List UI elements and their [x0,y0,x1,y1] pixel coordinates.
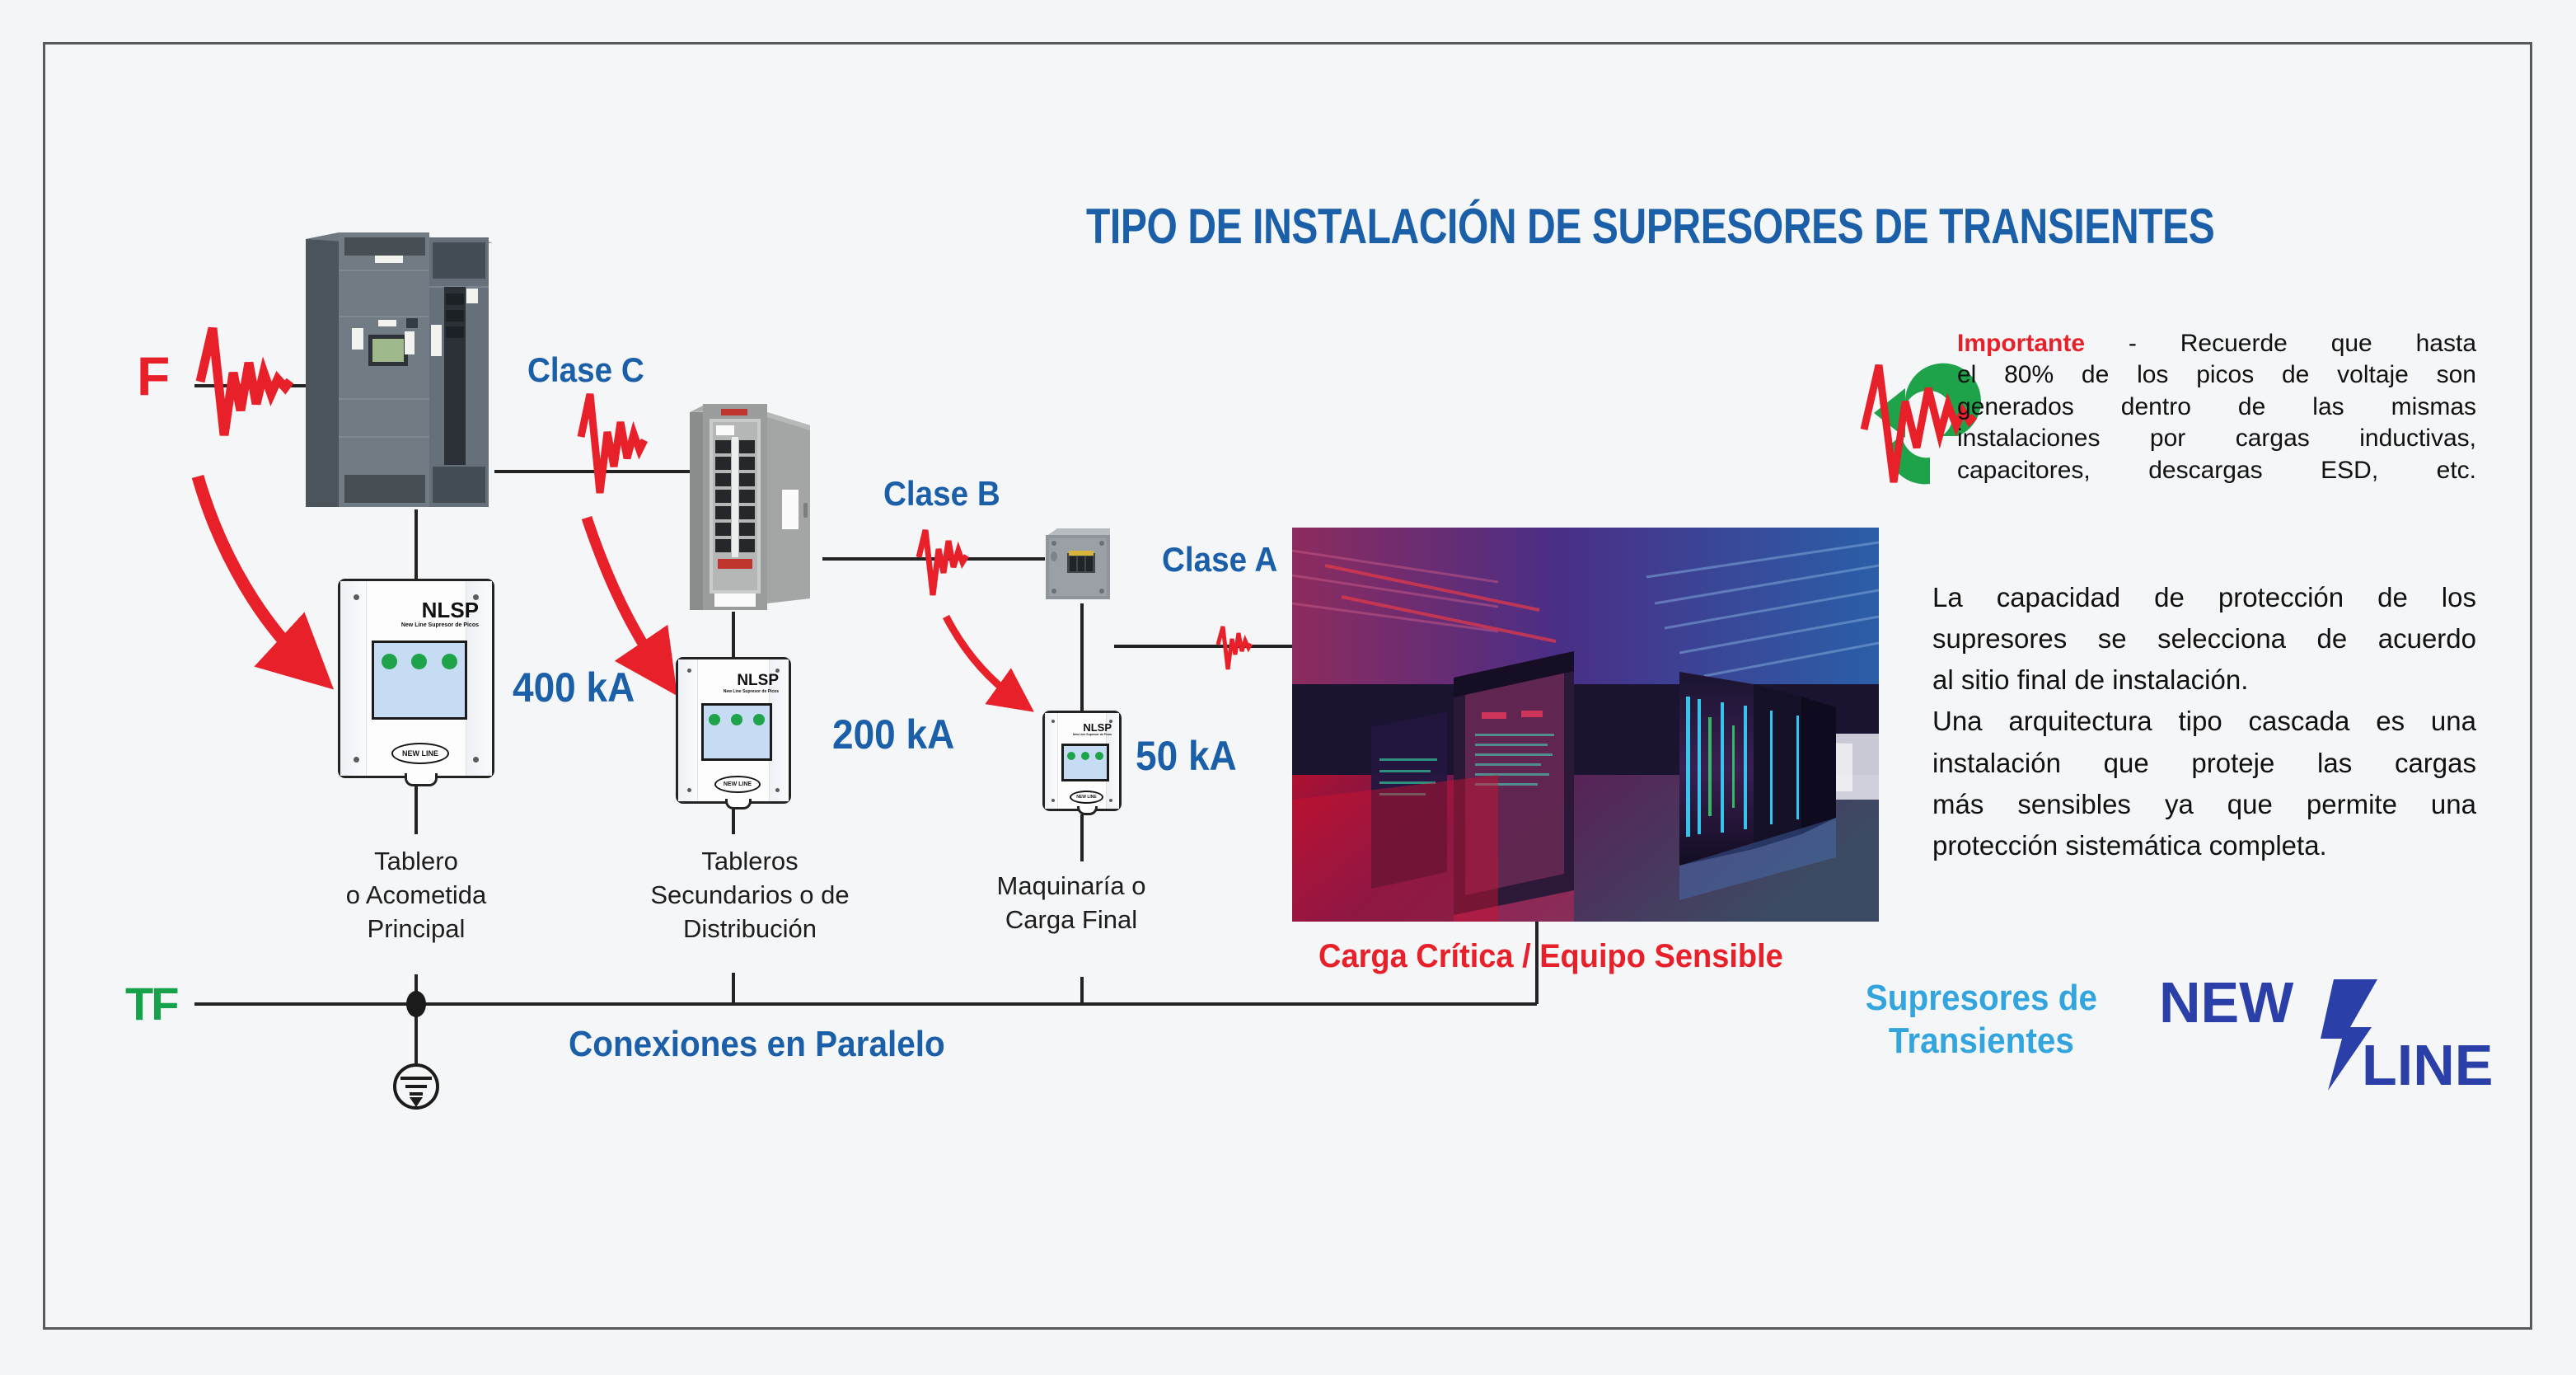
newline-logo: NEW LINE [2159,971,2513,1095]
photo-caption: Carga Crítica / Equipo Sensible [1318,938,1783,975]
nlsp-device-200ka[interactable]: NLSP New Line Supresor de Picos NEW LINE [676,657,791,804]
important-line-2: el 80% de los picos de voltaje son [1957,359,2476,391]
status-window [1061,744,1109,781]
description-paragraph: La capacidad de protección de los supres… [1932,577,2476,866]
logo-word-new: NEW [2159,971,2293,1035]
status-window [372,641,467,720]
nlsp-device-400ka[interactable]: NLSP New Line Supresor de Picos NEW LINE [338,579,494,778]
conduit-knockout [725,799,752,810]
device-model-label: NLSP [422,599,479,621]
machine-breaker-box-image [1042,523,1113,603]
screw-icon [775,788,780,792]
device-model-label: NLSP [737,673,779,688]
status-led [411,654,427,669]
device-bezel-left [1045,713,1058,809]
important-note: Importante - Recuerde que hasta el 80% d… [1957,328,2476,486]
status-led [442,654,457,669]
status-window [701,703,772,761]
paragraph-line-5: instalación que proteje las cargas [1932,743,2476,784]
class-label-c: Clase C [527,350,644,390]
important-line-5: capacitores, descargas ESD, etc. [1957,455,2476,486]
status-led [753,714,765,725]
rating-label-50ka: 50 kA [1136,732,1237,780]
caption-line: Maquinaría o [935,870,1207,903]
stage-caption-final-load: Maquinaría o Carga Final [935,870,1207,937]
nlsp-device-50ka[interactable]: NLSP New Line Supresor de Picos NEW LINE [1042,711,1122,811]
screw-icon [1051,799,1055,802]
device-bezel-left [678,659,698,801]
device-subtitle: New Line Supresor de Picos [401,622,479,628]
caption-line: Secundarios o de [610,879,890,913]
stage-caption-main: Tablero o Acometida Principal [280,845,552,946]
caption-line: Carga Final [935,903,1207,937]
screw-icon [687,788,691,792]
rating-label-400ka: 400 kA [513,664,635,711]
ground-line-label: TF [125,977,176,1030]
caption-line: Principal [280,913,552,946]
logo-word-line: LINE [2362,1033,2493,1095]
stage-caption-secondary: Tableros Secundarios o de Distribución [610,845,890,946]
important-line-1: - Recuerde que hasta [2129,330,2476,357]
status-led [1081,752,1089,760]
tagline-line-1: Supresores de [1834,977,2129,1020]
infographic-canvas: TIPO DE INSTALACIÓN DE SUPRESORES DE TRA… [0,0,2576,1375]
caption-line: Tablero [280,845,552,879]
class-label-a: Clase A [1162,540,1277,580]
paragraph-line-7: protección sistemática completa. [1932,825,2476,866]
rating-label-200ka: 200 kA [832,711,954,758]
datacenter-photo [1292,528,1879,922]
screw-icon [687,669,691,673]
important-line-3: generados dentro de las mismas [1957,392,2476,423]
paragraph-line-6: más sensibles ya que permite una [1932,784,2476,825]
newline-badge: NEW LINE [1070,791,1103,804]
main-switchgear-image [299,228,493,512]
page-title: TIPO DE INSTALACIÓN DE SUPRESORES DE TRA… [1086,198,2246,255]
tagline-line-2: Transientes [1834,1020,2129,1063]
important-line-4: instalaciones por cargas inductivas, [1957,423,2476,454]
caption-line: Distribución [610,913,890,946]
paragraph-line-4: Una arquitectura tipo cascada es una [1932,701,2476,742]
screw-icon [473,757,479,763]
device-subtitle: New Line Supresor de Picos [1073,734,1112,737]
device-model-label: NLSP [1083,722,1112,733]
screw-icon [354,757,359,763]
parallel-bus-label: Conexiones en Paralelo [569,1024,945,1065]
newline-badge: NEW LINE [391,743,449,764]
device-subtitle: New Line Supresor de Picos [724,690,779,694]
screw-icon [1051,720,1055,723]
screw-icon [1109,799,1112,802]
caption-line: Tableros [610,845,890,879]
device-bezel-left [340,581,367,776]
screw-icon [354,594,359,600]
important-keyword: Importante [1957,330,2085,357]
status-led [1095,752,1103,760]
brand-tagline: Supresores de Transientes [1834,977,2129,1063]
caption-line: o Acometida [280,879,552,913]
status-led [731,714,742,725]
newline-badge: NEW LINE [714,776,761,793]
class-label-b: Clase B [883,474,1000,514]
distribution-panel-image [688,397,820,616]
paragraph-line-1: La capacidad de protección de los [1932,577,2476,618]
status-led [709,714,720,725]
conduit-knockout [405,773,438,786]
paragraph-line-3: al sitio final de instalación. [1932,659,2476,701]
paragraph-line-2: supresores se selecciona de acuerdo [1932,618,2476,659]
phase-line-label: F [137,345,170,407]
status-led [1067,752,1075,760]
status-led [382,654,397,669]
